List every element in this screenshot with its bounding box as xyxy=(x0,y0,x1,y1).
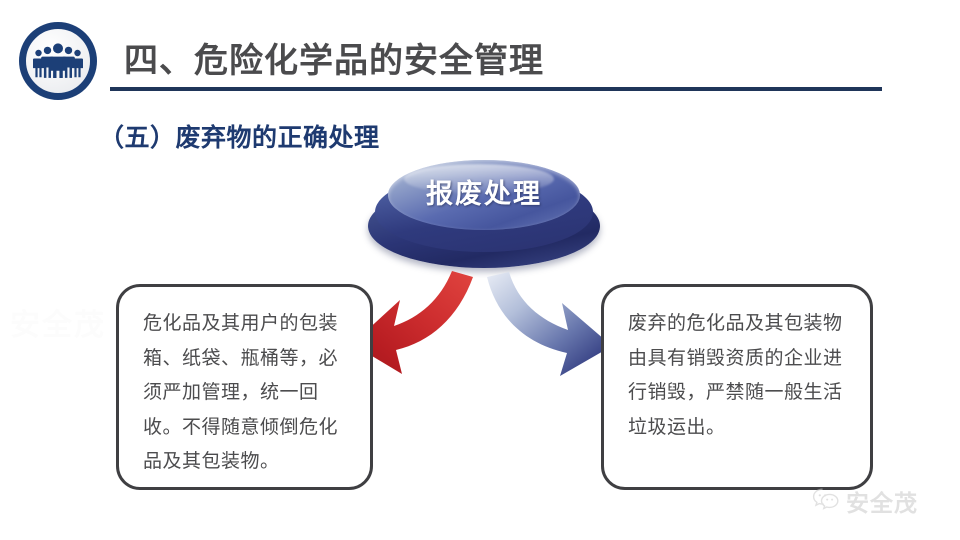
background-watermark: 安全茂 xyxy=(10,300,106,344)
callout-right: 废弃的危化品及其包装物由具有销毁资质的企业进行销毁，严禁随一般生活垃圾运出。 xyxy=(601,284,873,490)
hub-label: 报废处理 xyxy=(368,172,600,211)
callout-left: 危化品及其用户的包装箱、纸袋、瓶桶等，必须严加管理，统一回收。不得随意倾倒危化品… xyxy=(116,284,373,490)
corner-watermark: 安全茂 xyxy=(812,484,918,518)
hub-shape: 报废处理 xyxy=(368,158,600,270)
title-divider xyxy=(110,87,882,91)
page-title: 四、危险化学品的安全管理 xyxy=(124,33,544,82)
arrow-to-right-callout xyxy=(487,272,612,376)
section-subtitle: （五）废弃物的正确处理 xyxy=(99,118,380,154)
slide-canvas: 安全茂 xyxy=(0,0,960,540)
watermark-text: 安全茂 xyxy=(846,484,918,518)
logo-badge xyxy=(19,22,97,100)
wechat-icon xyxy=(812,487,840,516)
